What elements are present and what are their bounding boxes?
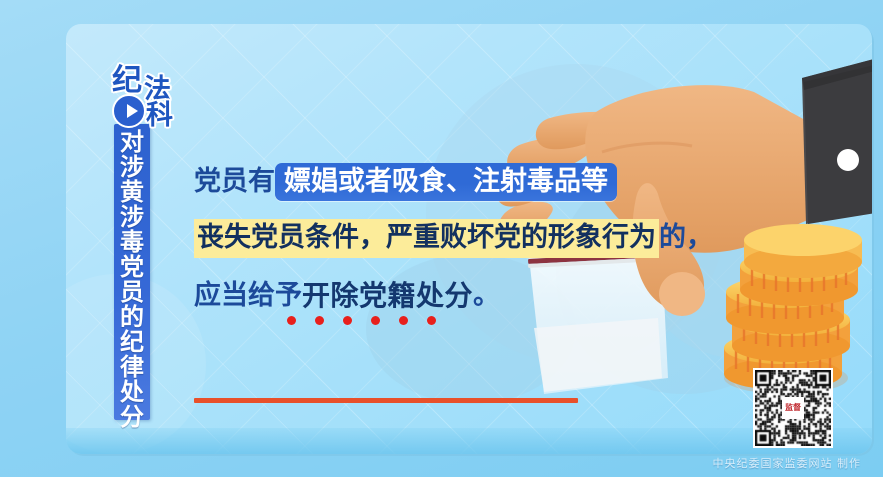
- vbanner-char: 处: [120, 380, 144, 405]
- vertical-title-banner: 对 涉 黄 涉 毒 党 员 的 纪 律 处 分: [114, 124, 150, 420]
- brand-logo: 纪 法 科: [110, 66, 188, 144]
- vbanner-char: 分: [120, 405, 144, 430]
- line1-prefix: 党员有: [194, 166, 275, 197]
- line3-suffix: 。: [473, 280, 500, 311]
- emphasis-dot: [371, 316, 380, 325]
- emphasis-dot: [427, 316, 436, 325]
- emphasis-dot: [343, 316, 352, 325]
- line2-highlight-yellow: 丧失党员条件，严重败坏党的形象行为: [194, 219, 659, 258]
- vbanner-char: 员: [120, 280, 144, 305]
- credit-text: 中央纪委国家监委网站 制作: [713, 455, 862, 471]
- suit-sleeve: [802, 48, 872, 224]
- emphasis-dots: [287, 316, 436, 325]
- line2-suffix: 的，: [659, 222, 713, 253]
- qr-center-logo: 监督: [782, 397, 804, 419]
- vbanner-char: 党: [120, 255, 144, 280]
- vbanner-char: 黄: [120, 180, 144, 205]
- logo-char-ji: 纪: [112, 66, 142, 96]
- emphasis-dot: [287, 316, 296, 325]
- qr-center-text: 监督: [785, 404, 801, 412]
- line1-highlight-blue: 嫖娼或者吸食、注射毒品等: [275, 163, 617, 201]
- vbanner-char: 涉: [120, 205, 144, 230]
- vbanner-char: 涉: [120, 155, 144, 180]
- vbanner-char: 纪: [120, 330, 144, 355]
- vbanner-char: 毒: [120, 230, 144, 255]
- play-icon: [127, 104, 138, 118]
- regulation-text-block: 党员有嫖娼或者吸食、注射毒品等 丧失党员条件，严重败坏党的形象行为的， 应当给予…: [194, 162, 624, 324]
- emphasis-dot: [315, 316, 324, 325]
- text-line-3: 应当给予开除党籍处分。: [194, 276, 624, 316]
- qr-code[interactable]: 监督: [753, 368, 833, 448]
- logo-char-ke: 科: [146, 102, 173, 129]
- line3-prefix: 应当给予: [194, 280, 302, 311]
- infographic-canvas: 纪 法 科 对 涉 黄 涉 毒 党 员 的 纪 律 处 分 党员有嫖娼或者吸食、…: [0, 0, 883, 477]
- text-line-2: 丧失党员条件，严重败坏党的形象行为的，: [194, 218, 624, 258]
- content-panel: 纪 法 科 对 涉 黄 涉 毒 党 员 的 纪 律 处 分 党员有嫖娼或者吸食、…: [66, 24, 872, 454]
- line3-bold-sanction: 开除党籍处分: [302, 279, 473, 312]
- logo-circle-bai: [112, 94, 146, 128]
- text-line-1: 党员有嫖娼或者吸食、注射毒品等: [194, 162, 624, 202]
- line2-orange-underline: [194, 398, 578, 403]
- vbanner-char: 律: [120, 355, 144, 380]
- emphasis-dot: [399, 316, 408, 325]
- logo-char-fa: 法: [144, 76, 171, 103]
- vbanner-char: 的: [120, 305, 144, 330]
- cufflink-button: [837, 149, 859, 171]
